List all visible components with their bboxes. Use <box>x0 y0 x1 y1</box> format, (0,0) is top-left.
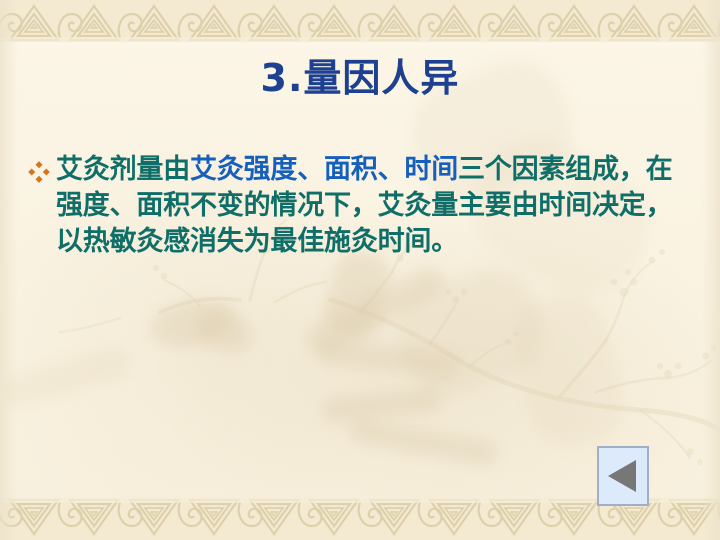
top-ornament-border <box>0 0 720 42</box>
slide-title: 3.量因人异 <box>0 58 720 100</box>
back-triangle-icon <box>608 460 636 492</box>
diamond-cluster-bullet-icon <box>28 161 54 187</box>
slide-canvas: 3.量因人异 艾灸剂量由艾灸强度、面积、时间三个因素组成，在强度、面积不变的情况… <box>0 0 720 540</box>
body-segment-1: 艾灸剂量由 <box>56 154 190 185</box>
content-block: 艾灸剂量由艾灸强度、面积、时间三个因素组成，在强度、面积不变的情况下，艾灸量主要… <box>28 152 696 260</box>
back-navigation-button[interactable] <box>597 446 649 506</box>
body-segment-2-highlighted: 艾灸强度、面积、时间 <box>190 154 458 185</box>
body-paragraph: 艾灸剂量由艾灸强度、面积、时间三个因素组成，在强度、面积不变的情况下，艾灸量主要… <box>56 152 696 260</box>
